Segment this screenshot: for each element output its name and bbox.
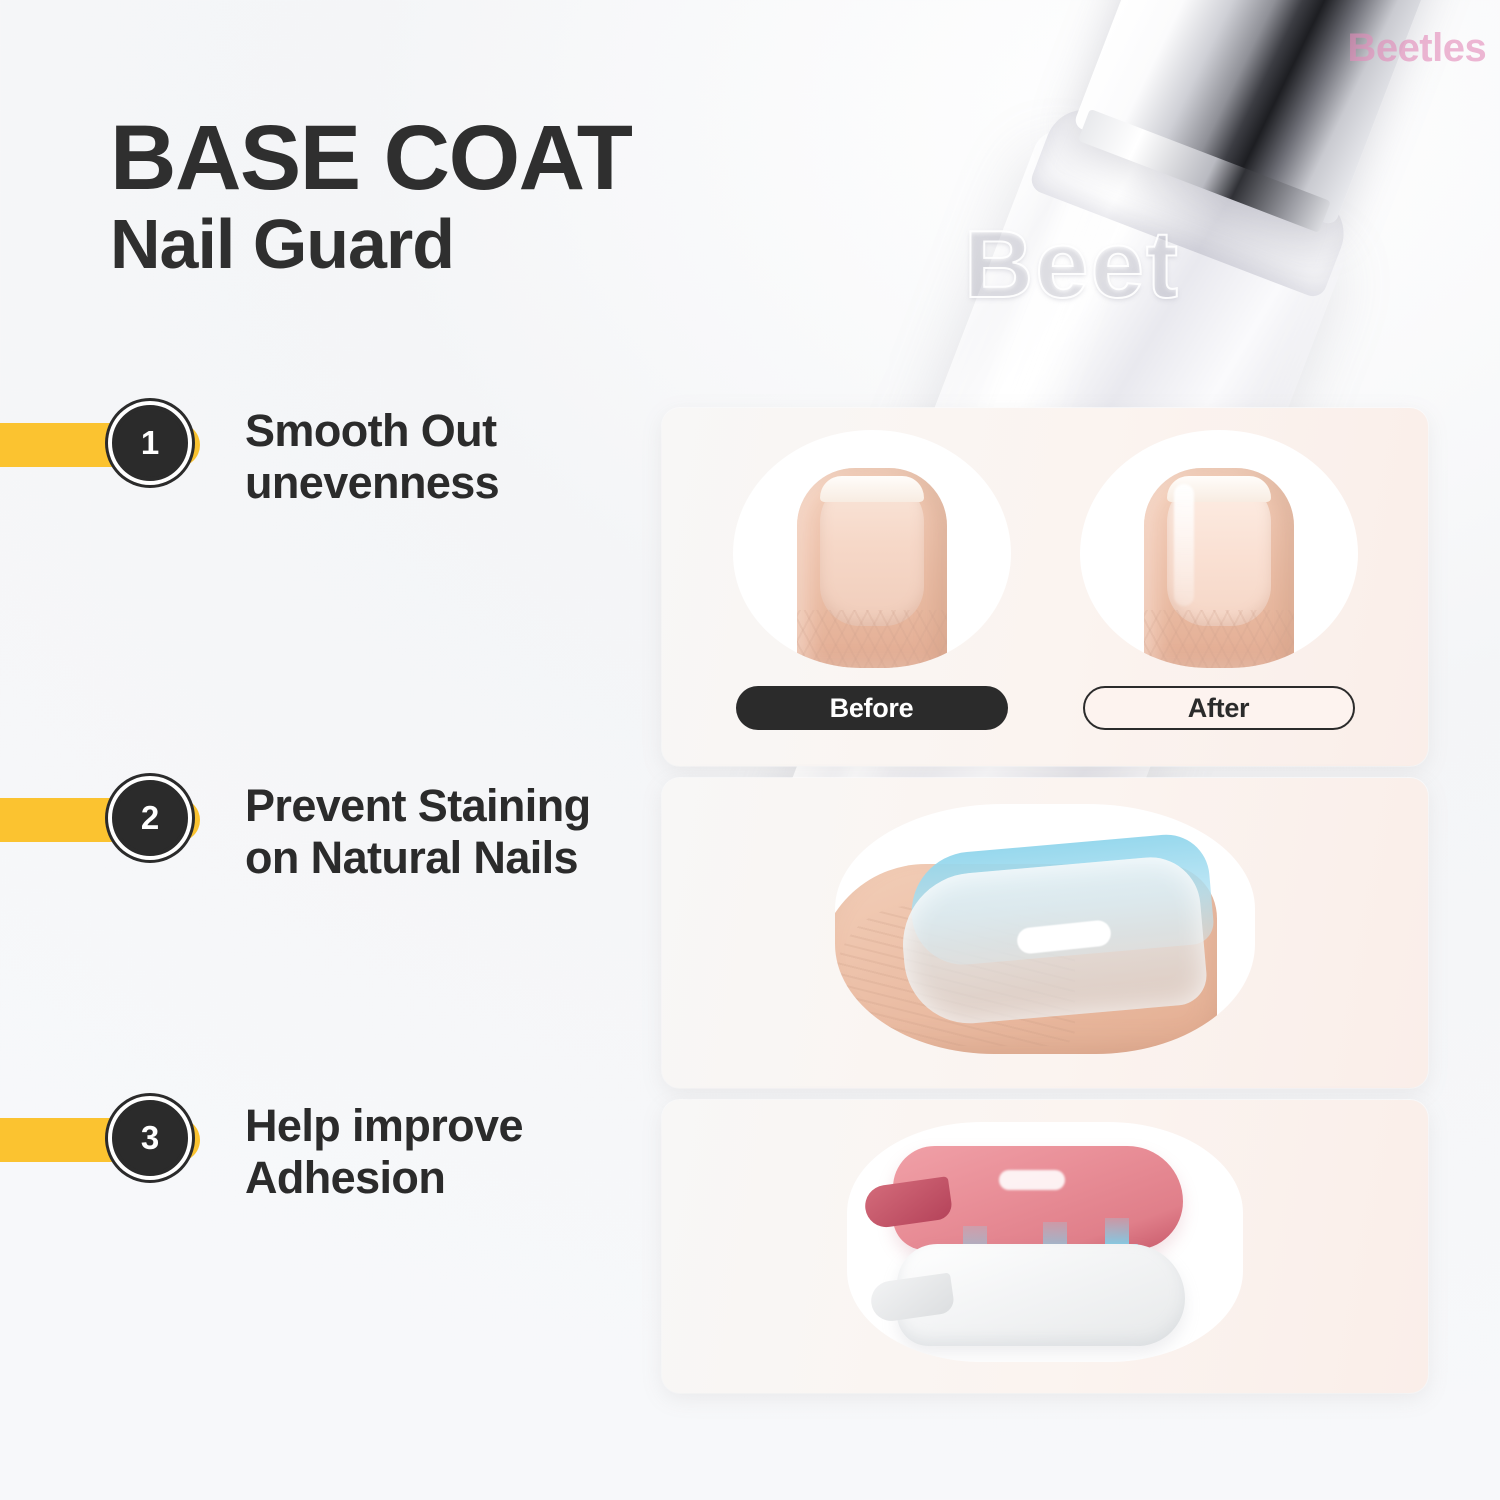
feature-item-1: 1 Smooth Out unevenness <box>0 405 605 509</box>
card-adhesion <box>662 1100 1428 1393</box>
before-after-row: Before After <box>662 408 1428 730</box>
adhesion-illustration <box>847 1122 1243 1362</box>
page-subtitle: Nail Guard <box>110 208 631 282</box>
feature-number-badge-1: 1 <box>112 405 188 481</box>
feature-item-2: 2 Prevent Staining on Natural Nails <box>0 780 605 884</box>
brand-logo-cap-right: Beetles <box>1347 26 1486 71</box>
skin-texture-after <box>1144 610 1294 668</box>
feature-label-3: Help improve Adhesion <box>245 1100 605 1204</box>
feature-marker-3: 3 <box>0 1100 208 1178</box>
fingertip-after <box>1144 468 1294 668</box>
illustration-card-stack: Before After <box>662 408 1428 1393</box>
after-nail-photo <box>1080 430 1358 668</box>
card-protective-layer <box>662 778 1428 1088</box>
feature-label-1: Smooth Out unevenness <box>245 405 605 509</box>
bottle-chrome-cap <box>1073 0 1492 226</box>
feature-number-badge-2: 2 <box>112 780 188 856</box>
gel-polish-layer <box>893 1146 1183 1250</box>
after-badge: After <box>1083 686 1355 730</box>
after-column: After <box>1076 430 1361 730</box>
nail-tip-before <box>820 476 924 502</box>
fingertip-before <box>797 468 947 668</box>
nail-gloss-highlight <box>1174 484 1194 606</box>
protective-layer-illustration <box>835 804 1255 1054</box>
feature-number-badge-3: 3 <box>112 1100 188 1176</box>
bottle-shoulder <box>1028 98 1356 300</box>
before-nail-photo <box>733 430 1011 668</box>
before-column: Before <box>729 430 1014 730</box>
before-badge: Before <box>736 686 1008 730</box>
base-coat-layer <box>897 1244 1185 1346</box>
page-header: BASE COAT Nail Guard <box>110 112 631 282</box>
skin-texture-before <box>797 610 947 668</box>
feature-marker-2: 2 <box>0 780 208 858</box>
feature-item-3: 3 Help improve Adhesion <box>0 1100 605 1204</box>
feature-label-2: Prevent Staining on Natural Nails <box>245 780 605 884</box>
card-before-after: Before After <box>662 408 1428 766</box>
bottle-label-brand: Beet <box>964 219 1264 310</box>
bottle-cap-neck <box>1078 109 1331 233</box>
page-title: BASE COAT <box>110 112 631 204</box>
feature-marker-1: 1 <box>0 405 208 483</box>
